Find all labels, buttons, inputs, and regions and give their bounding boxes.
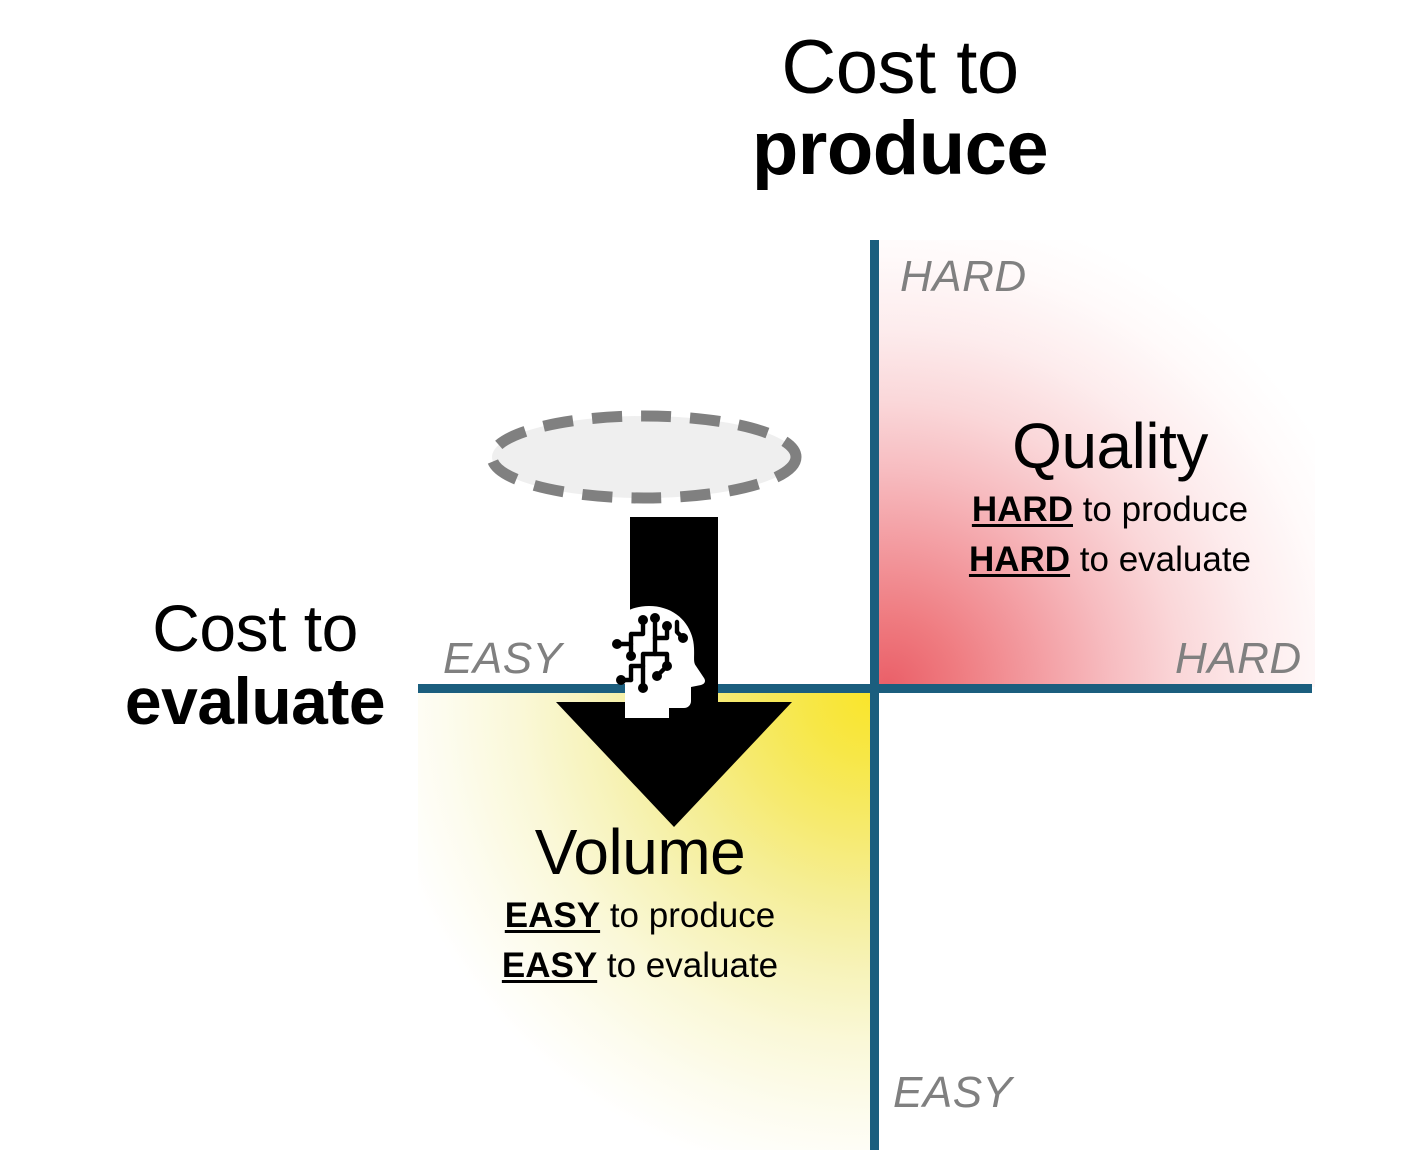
axis-end-label-top: HARD <box>900 252 1027 302</box>
quality-heading: Quality <box>900 412 1320 481</box>
quadrant-diagram: Cost to produce Cost to evaluate HARD HA… <box>0 0 1415 1166</box>
quality-line2-keyword: HARD <box>969 540 1070 579</box>
vertical-axis-line <box>870 240 879 1150</box>
volume-line1-keyword: EASY <box>505 896 600 935</box>
ai-brain-head-icon <box>597 604 707 720</box>
volume-detail-line-1: EASY to produce <box>420 891 860 941</box>
quality-line1-keyword: HARD <box>972 490 1073 529</box>
top-axis-title-line2: produce <box>640 109 1160 190</box>
dashed-ellipse-icon <box>484 409 804 505</box>
volume-line2-rest: to evaluate <box>597 946 778 985</box>
quality-detail-line-1: HARD to produce <box>900 485 1320 535</box>
axis-end-label-right: HARD <box>1175 634 1302 684</box>
quality-detail-line-2: HARD to evaluate <box>900 535 1320 585</box>
volume-line1-rest: to produce <box>600 896 775 935</box>
axis-end-label-bottom: EASY <box>893 1068 1012 1118</box>
quality-line2-rest: to evaluate <box>1070 540 1251 579</box>
top-axis-title: Cost to produce <box>640 28 1160 189</box>
volume-quadrant-label: Volume EASY to produce EASY to evaluate <box>420 818 860 990</box>
volume-line2-keyword: EASY <box>502 946 597 985</box>
quality-quadrant-label: Quality HARD to produce HARD to evaluate <box>900 412 1320 584</box>
left-axis-title: Cost to evaluate <box>55 592 455 737</box>
quality-line1-rest: to produce <box>1073 490 1248 529</box>
horizontal-axis-line <box>418 684 1312 693</box>
volume-heading: Volume <box>420 818 860 887</box>
axis-end-label-left: EASY <box>443 634 562 684</box>
left-axis-title-line2: evaluate <box>55 665 455 738</box>
volume-detail-line-2: EASY to evaluate <box>420 941 860 991</box>
top-axis-title-line1: Cost to <box>640 28 1160 109</box>
left-axis-title-line1: Cost to <box>55 592 455 665</box>
